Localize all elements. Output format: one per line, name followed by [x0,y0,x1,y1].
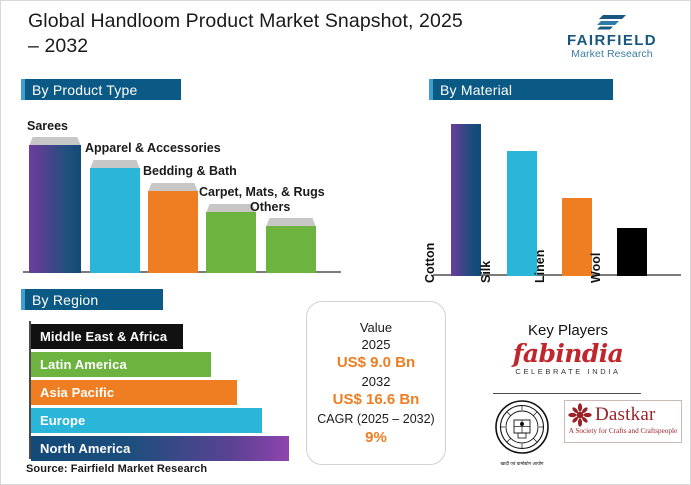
bar-label-carpet-mats-rugs: Carpet, Mats, & Rugs [199,185,325,199]
region-bar-asia-pacific: Asia Pacific [31,380,237,405]
bar-label-bedding-bath: Bedding & Bath [143,164,237,178]
logo-name: FAIRFIELD [554,33,670,48]
region-bar-north-america: North America [31,436,289,461]
region-bar-label: Middle East & Africa [40,329,167,344]
fabindia-wordmark: fabindia [488,341,648,367]
bar-body [451,124,481,276]
floral-star-icon [568,403,592,427]
bar-body [562,198,592,276]
base-year-label: 2025 [307,336,445,353]
bar-others [266,218,316,273]
infographic-canvas: Global Handloom Product Market Snapshot,… [0,0,691,485]
bar-bedding-bath [148,183,198,273]
bar-label-wool: Wool [589,253,603,283]
kvic-seal-logo: खादी एवं ग्रामोद्योग आयोग [491,399,553,467]
forecast-year-label: 2032 [307,373,445,390]
forecast-year-value: US$ 16.6 Bn [307,390,445,410]
region-bar-label: Asia Pacific [40,385,114,400]
bar-linen [562,198,592,276]
bar-apparel-accessories [90,160,140,273]
dastkar-tagline: A Society for Crafts and Craftspeople [568,427,678,436]
dastkar-wordmark: Dastkar [595,405,656,425]
cagr-label: CAGR (2025 – 2032) [307,410,445,428]
fairfield-f-mark-icon [597,13,627,31]
product-type-chart: Sarees Apparel & Accessories Bedding & B… [23,113,343,273]
section-label: By Product Type [32,82,137,98]
bar-label-silk: Silk [479,261,493,283]
region-bar-label: Latin America [40,357,127,372]
region-bar-middle-east-africa: Middle East & Africa [31,324,183,349]
kvic-seal-hindi-text: खादी एवं ग्रामोद्योग आयोग [491,461,553,467]
region-bar-europe: Europe [31,408,262,433]
section-header-material: By Material [429,79,613,100]
dastkar-row: Dastkar [568,403,678,427]
region-bar-latin-america: Latin America [31,352,211,377]
source-note: Source: Fairfield Market Research [26,463,207,475]
bar-body [617,228,647,276]
bar-body [266,226,316,273]
bar-label-apparel-accessories: Apparel & Accessories [85,141,221,155]
dastkar-logo: Dastkar A Society for Crafts and Craftsp… [564,400,682,443]
region-chart: Middle East & Africa Latin America Asia … [29,321,299,459]
region-bar-label: North America [40,441,130,456]
fabindia-tagline: CELEBRATE INDIA [488,367,648,377]
bar-body [29,145,81,273]
bar-cotton [451,124,481,276]
fabindia-logo: fabindia CELEBRATE INDIA [488,341,648,377]
brand-logo: FAIRFIELD Market Research [554,13,670,60]
bar-body [90,168,140,273]
material-chart: Cotton Silk Linen Wool [433,111,683,276]
bar-label-sarees: Sarees [27,119,68,133]
section-label: By Region [32,292,98,308]
bar-label-others: Others [250,200,290,214]
bar-label-linen: Linen [533,250,547,283]
bar-label-cotton: Cotton [423,243,437,283]
bar-wool [617,228,647,276]
value-summary-box: Value 2025 US$ 9.0 Bn 2032 US$ 16.6 Bn C… [306,301,446,465]
base-year-value: US$ 9.0 Bn [307,353,445,373]
key-players-title: Key Players [488,322,648,339]
region-bar-label: Europe [40,413,85,428]
page-title: Global Handloom Product Market Snapshot,… [28,9,478,59]
section-header-region: By Region [21,289,163,310]
section-header-product-type: By Product Type [21,79,181,100]
cagr-value: 9% [307,428,445,448]
logo-subtitle: Market Research [554,48,670,60]
bar-carpet-mats-rugs [206,204,256,273]
value-label: Value [307,319,445,336]
accent-tab [429,79,433,100]
accent-tab [21,289,25,310]
bar-body [206,212,256,273]
accent-tab [21,79,25,100]
kvic-seal-icon [494,399,550,455]
bar-sarees [29,137,81,273]
section-label: By Material [440,82,512,98]
bar-body [148,191,198,273]
key-players-divider [493,393,641,394]
